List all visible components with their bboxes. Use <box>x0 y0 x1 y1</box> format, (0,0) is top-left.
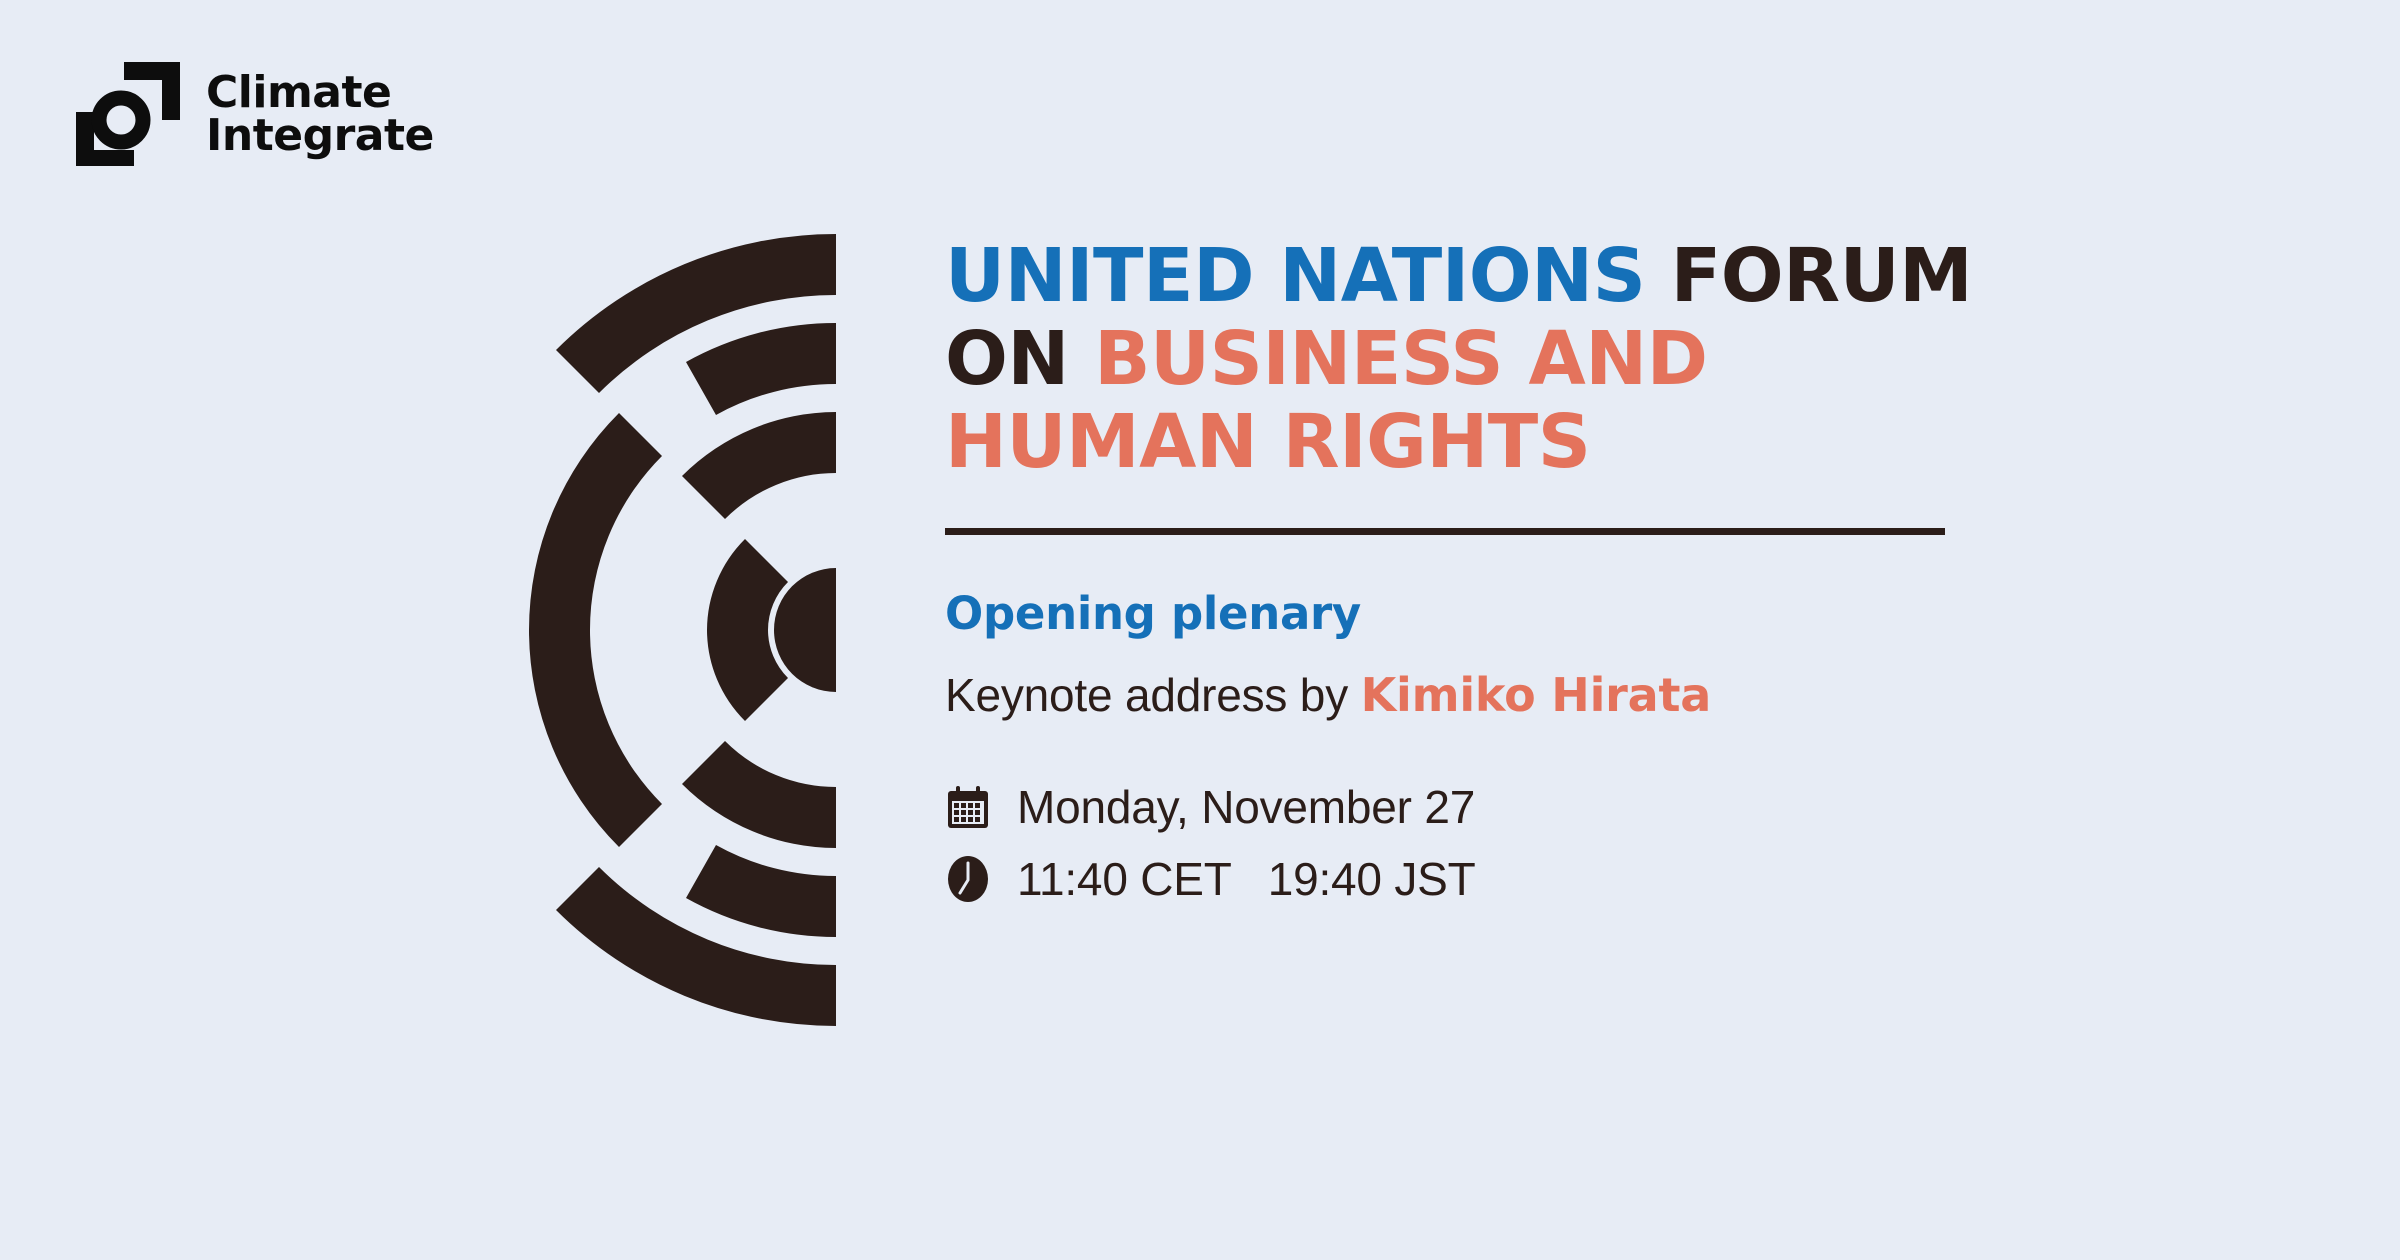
event-date: Monday, November 27 <box>1017 780 1475 834</box>
bracket-ring-logo-icon <box>72 60 184 168</box>
headline-line-2: ON BUSINESS AND <box>945 318 1965 401</box>
concentric-radar-arcs-graphic <box>430 230 850 1030</box>
event-time-row: 11:40 CET19:40 JST <box>945 852 1965 906</box>
keynote-line: Keynote address by Kimiko Hirata <box>945 668 1965 722</box>
session-title: Opening plenary <box>945 587 1965 640</box>
event-time: 11:40 CET19:40 JST <box>1017 852 1476 906</box>
keynote-prefix: Keynote address by <box>945 669 1348 721</box>
brand-wordmark: Climate Integrate <box>206 71 434 157</box>
event-date-row: Monday, November 27 <box>945 780 1965 834</box>
headline-line-1: UNITED NATIONS FORUM <box>945 235 1965 318</box>
event-time-cet: 11:40 CET <box>1017 853 1232 905</box>
clock-icon <box>945 856 991 902</box>
headline-business-and: BUSINESS AND <box>1094 316 1707 402</box>
brand-name-line-2: Integrate <box>206 114 434 157</box>
headline-united-nations: UNITED NATIONS <box>945 233 1645 319</box>
keynote-speaker: Kimiko Hirata <box>1361 668 1712 722</box>
headline-on: ON <box>945 316 1069 402</box>
event-time-jst: 19:40 JST <box>1268 853 1476 905</box>
headline-forum: FORUM <box>1671 233 1973 319</box>
calendar-icon <box>945 784 991 830</box>
brand-name-line-1: Climate <box>206 71 434 114</box>
section-divider <box>945 528 1945 535</box>
event-headline: UNITED NATIONS FORUM ON BUSINESS AND HUM… <box>945 235 1965 484</box>
headline-human-rights: HUMAN RIGHTS <box>945 401 1965 484</box>
event-details-panel: UNITED NATIONS FORUM ON BUSINESS AND HUM… <box>945 235 1965 924</box>
brand-logo: Climate Integrate <box>72 60 434 168</box>
